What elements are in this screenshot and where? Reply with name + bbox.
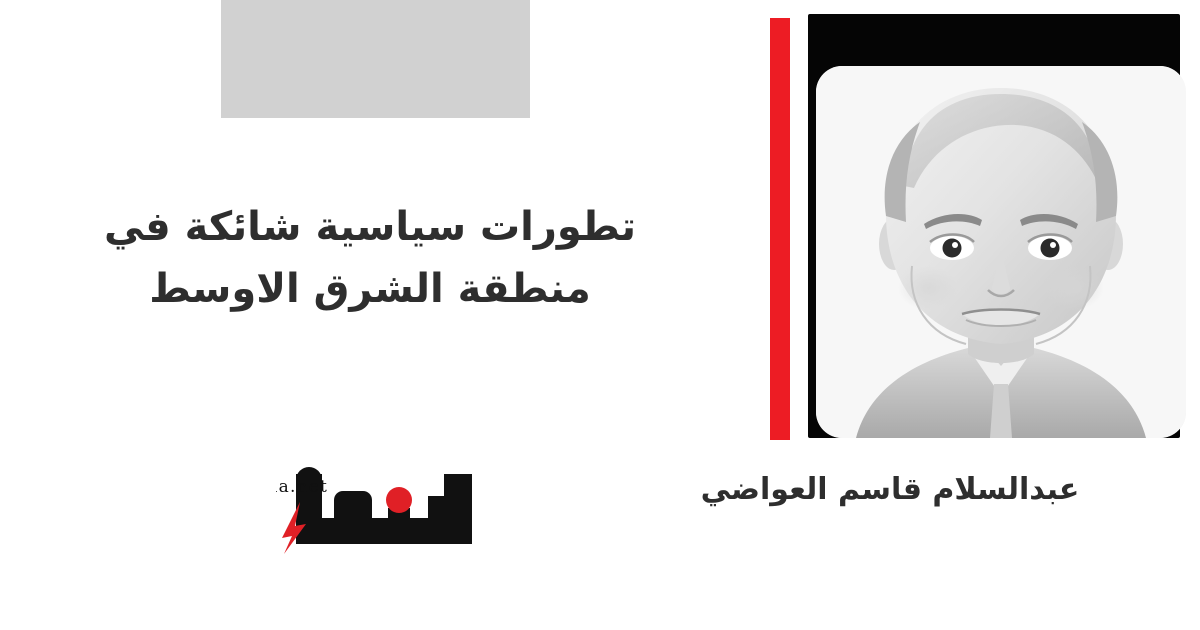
headline-line-2: منطقة الشرق الاوسط <box>40 258 700 320</box>
red-accent-bar <box>770 18 790 440</box>
author-portrait-group <box>762 8 1192 436</box>
logo-url-text: alndaa.net <box>276 477 328 497</box>
red-dot <box>386 487 412 513</box>
page-title: تطورات سياسية شائكة في منطقة الشرق الاوس… <box>40 196 700 320</box>
headline-line-1: تطورات سياسية شائكة في <box>40 196 700 258</box>
logo-artwork: alndaa.net <box>276 456 490 560</box>
author-name: عبدالسلام قاسم العواضي <box>620 470 1160 509</box>
portrait-illustration <box>816 66 1186 438</box>
avatar <box>816 66 1186 438</box>
article-share-card: تطورات سياسية شائكة في منطقة الشرق الاوس… <box>0 0 1200 630</box>
image-placeholder-block <box>221 0 530 118</box>
site-logo[interactable]: alndaa.net <box>276 456 490 560</box>
